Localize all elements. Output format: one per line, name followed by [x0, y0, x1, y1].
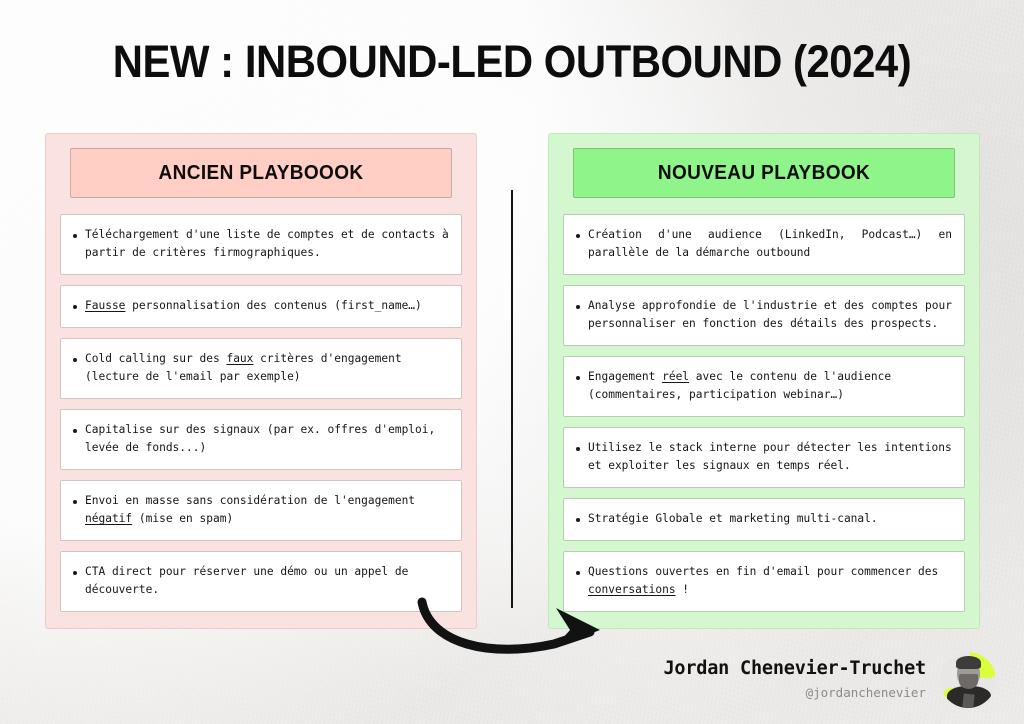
new-playbook-item-1: Analyse approfondie de l'industrie et de…	[563, 285, 965, 346]
new-playbook-item-text: Utilisez le stack interne pour détecter …	[588, 439, 952, 475]
old-playbook-item-list: Téléchargement d'une liste de comptes et…	[60, 214, 462, 612]
avatar	[940, 652, 996, 708]
curved-arrow-icon	[404, 592, 620, 662]
signature-text: Jordan Chenevier-Truchet @jordanchenevie…	[663, 657, 926, 703]
old-playbook-item-text: CTA direct pour réserver une démo ou un …	[85, 563, 449, 599]
new-playbook-item-3: Utilisez le stack interne pour détecter …	[563, 427, 965, 488]
slide-stage: NEW : INBOUND-LED OUTBOUND (2024) ANCIEN…	[0, 0, 1024, 724]
old-playbook-item-3: Capitalise sur des signaux (par ex. offr…	[60, 409, 462, 470]
bullet-icon	[73, 571, 77, 575]
avatar-hair	[956, 656, 981, 669]
old-playbook-item-1: Fausse personnalisation des contenus (fi…	[60, 285, 462, 328]
new-playbook-item-text: Analyse approfondie de l'industrie et de…	[588, 297, 952, 333]
bullet-icon	[73, 500, 77, 504]
old-playbook-item-text: Cold calling sur des faux critères d'eng…	[85, 350, 449, 386]
bullet-icon	[576, 305, 580, 309]
new-playbook-item-list: Création d'une audience (LinkedIn, Podca…	[563, 214, 965, 612]
page-title: NEW : INBOUND-LED OUTBOUND (2024)	[36, 36, 988, 88]
old-playbook-item-5: CTA direct pour réserver une démo ou un …	[60, 551, 462, 612]
new-playbook-panel: NOUVEAU PLAYBOOK Création d'une audience…	[548, 133, 980, 629]
new-playbook-item-4: Stratégie Globale et marketing multi-can…	[563, 498, 965, 541]
bullet-icon	[576, 447, 580, 451]
new-playbook-item-text: Questions ouvertes en fin d'email pour c…	[588, 563, 952, 599]
signature-name: Jordan Chenevier-Truchet	[663, 657, 926, 681]
bullet-icon	[576, 234, 580, 238]
new-playbook-item-5: Questions ouvertes en fin d'email pour c…	[563, 551, 965, 612]
avatar-collar	[962, 693, 974, 708]
old-playbook-item-4: Envoi en masse sans considération de l'e…	[60, 480, 462, 541]
new-playbook-item-2: Engagement réel avec le contenu de l'aud…	[563, 356, 965, 417]
old-playbook-item-text: Fausse personnalisation des contenus (fi…	[85, 297, 449, 315]
new-playbook-item-text: Stratégie Globale et marketing multi-can…	[588, 510, 952, 528]
bullet-icon	[73, 358, 77, 362]
old-playbook-item-text: Capitalise sur des signaux (par ex. offr…	[85, 421, 449, 457]
signature-block: Jordan Chenevier-Truchet @jordanchenevie…	[663, 652, 996, 708]
old-playbook-item-text: Téléchargement d'une liste de comptes et…	[85, 226, 449, 262]
new-playbook-item-text: Engagement réel avec le contenu de l'aud…	[588, 368, 952, 404]
bullet-icon	[576, 518, 580, 522]
new-playbook-item-text: Création d'une audience (LinkedIn, Podca…	[588, 226, 952, 262]
old-playbook-item-text: Envoi en masse sans considération de l'e…	[85, 492, 449, 528]
new-playbook-header: NOUVEAU PLAYBOOK	[573, 148, 955, 198]
bullet-icon	[576, 376, 580, 380]
new-playbook-item-0: Création d'une audience (LinkedIn, Podca…	[563, 214, 965, 275]
avatar-beard	[959, 674, 978, 689]
bullet-icon	[576, 571, 580, 575]
vertical-divider	[511, 190, 513, 608]
old-playbook-header: ANCIEN PLAYBOOOK	[70, 148, 452, 198]
old-playbook-panel: ANCIEN PLAYBOOOK Téléchargement d'une li…	[45, 133, 477, 629]
signature-handle: @jordanchenevier	[663, 683, 926, 703]
bullet-icon	[73, 234, 77, 238]
bullet-icon	[73, 305, 77, 309]
bullet-icon	[73, 429, 77, 433]
old-playbook-item-0: Téléchargement d'une liste de comptes et…	[60, 214, 462, 275]
old-playbook-item-2: Cold calling sur des faux critères d'eng…	[60, 338, 462, 399]
